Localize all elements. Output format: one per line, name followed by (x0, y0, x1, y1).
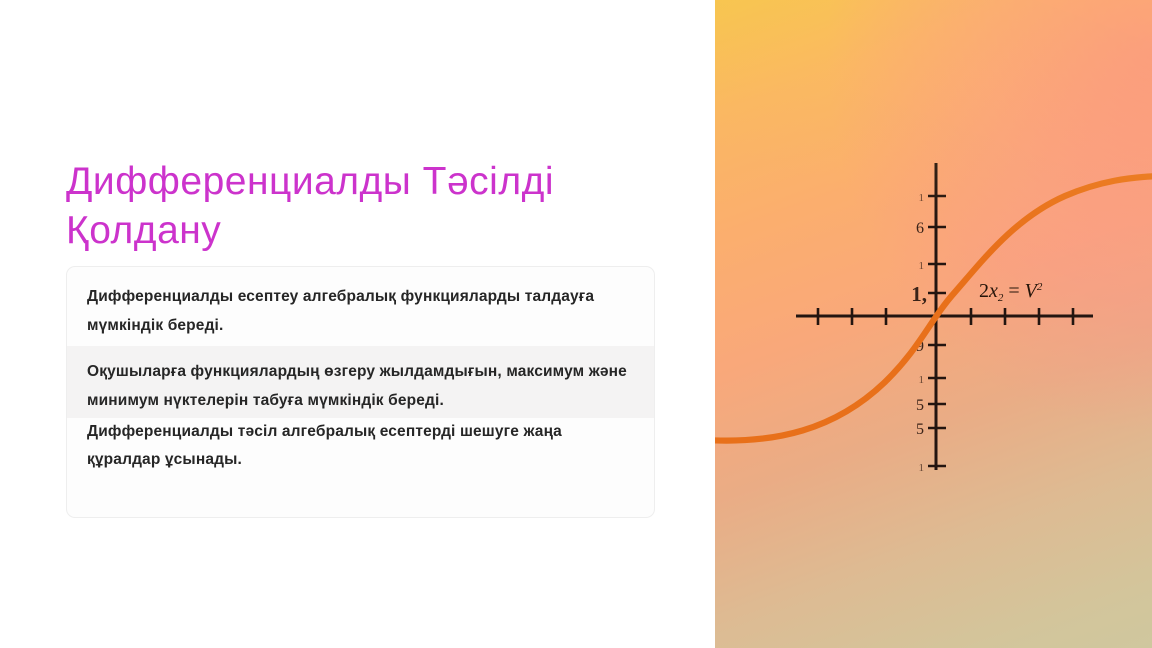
body-text-card: Дифференциалды есептеу алгебралық функци… (66, 266, 655, 518)
slide-canvas: 1 6 1 1, 9 1 5 5 1 2x2 = V2 (0, 0, 1152, 648)
body-paragraph-3: Дифференциалды тәсіл алгебралық есептерд… (67, 418, 654, 485)
y-tick-label: 6 (916, 220, 924, 237)
equation-annotation: 2x2 = V2 (979, 280, 1043, 304)
graph-panel: 1 6 1 1, 9 1 5 5 1 2x2 = V2 (715, 0, 1152, 648)
y-tick-label: 1 (919, 260, 925, 272)
y-tick-label: 5 (916, 397, 924, 414)
body-paragraph-1: Дифференциалды есептеу алгебралық функци… (67, 267, 654, 346)
curve-path (715, 176, 1152, 441)
y-tick-labels-above: 1 6 1 1, (911, 192, 927, 306)
function-graph: 1 6 1 1, 9 1 5 5 1 2x2 = V2 (715, 0, 1152, 648)
y-tick-label: 1 (919, 192, 925, 204)
y-tick-label: 1 (919, 374, 925, 386)
y-tick-label-origin: 1, (911, 282, 927, 306)
y-tick-label: 5 (916, 421, 924, 438)
y-tick-label: 1 (919, 462, 925, 474)
y-tick-labels-below: 9 1 5 5 1 (916, 338, 924, 474)
svg-text:2x2 = V2: 2x2 = V2 (979, 280, 1043, 304)
body-paragraph-2: Оқушыларға функциялардың өзгеру жылдамды… (67, 346, 654, 417)
page-title: Дифференциалды Тәсілді Қолдану (66, 158, 676, 256)
